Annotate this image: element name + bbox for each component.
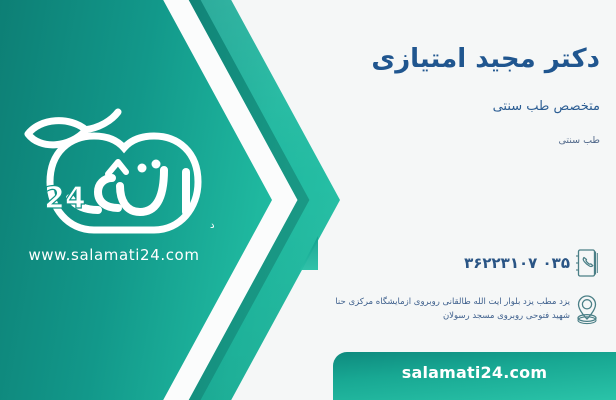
svg-text:24: 24 bbox=[44, 181, 86, 216]
map-pin-icon bbox=[570, 290, 604, 328]
phone-text-wrap: ۳۶۲۲۳۱۰۷ ۰۳۵ bbox=[274, 254, 570, 272]
address-line-2: شهید فتوحی روبروی مسجد رسولان bbox=[278, 309, 570, 323]
bottom-website-bar[interactable]: salamati24.com bbox=[333, 352, 616, 400]
business-card: 24 به راحتی یک لبخند www.salamati24.com … bbox=[0, 0, 616, 400]
svg-text:به راحتی یک لبخند: به راحتی یک لبخند bbox=[210, 220, 214, 231]
address-lines: یزد مطب یزد بلوار ایت الله طالقانی روبرو… bbox=[278, 295, 570, 323]
doctor-name: دکتر مجید امتیازی bbox=[280, 44, 600, 74]
address-text-wrap: یزد مطب یزد بلوار ایت الله طالقانی روبرو… bbox=[274, 295, 570, 323]
contact-block: ۳۶۲۲۳۱۰۷ ۰۳۵ یزد مطب یزد بلوار ایت الله … bbox=[274, 244, 604, 336]
salamati24-logo: 24 به راحتی یک لبخند www.salamati24.com bbox=[14, 108, 214, 273]
doctor-specialty: متخصص طب سنتی bbox=[280, 99, 600, 114]
address-line-1: یزد مطب یزد بلوار ایت الله طالقانی روبرو… bbox=[278, 295, 570, 309]
phone-book-icon bbox=[570, 244, 604, 282]
contact-row-phone: ۳۶۲۲۳۱۰۷ ۰۳۵ bbox=[274, 244, 604, 282]
doctor-field: طب سنتی bbox=[280, 135, 600, 146]
bottom-website-label: salamati24.com bbox=[333, 363, 616, 382]
logo-apple-icon: 24 به راحتی یک لبخند bbox=[14, 108, 214, 236]
contact-row-address: یزد مطب یزد بلوار ایت الله طالقانی روبرو… bbox=[274, 290, 604, 328]
phone-number: ۳۶۲۲۳۱۰۷ ۰۳۵ bbox=[278, 254, 570, 272]
logo-website-url: www.salamati24.com bbox=[14, 246, 214, 264]
